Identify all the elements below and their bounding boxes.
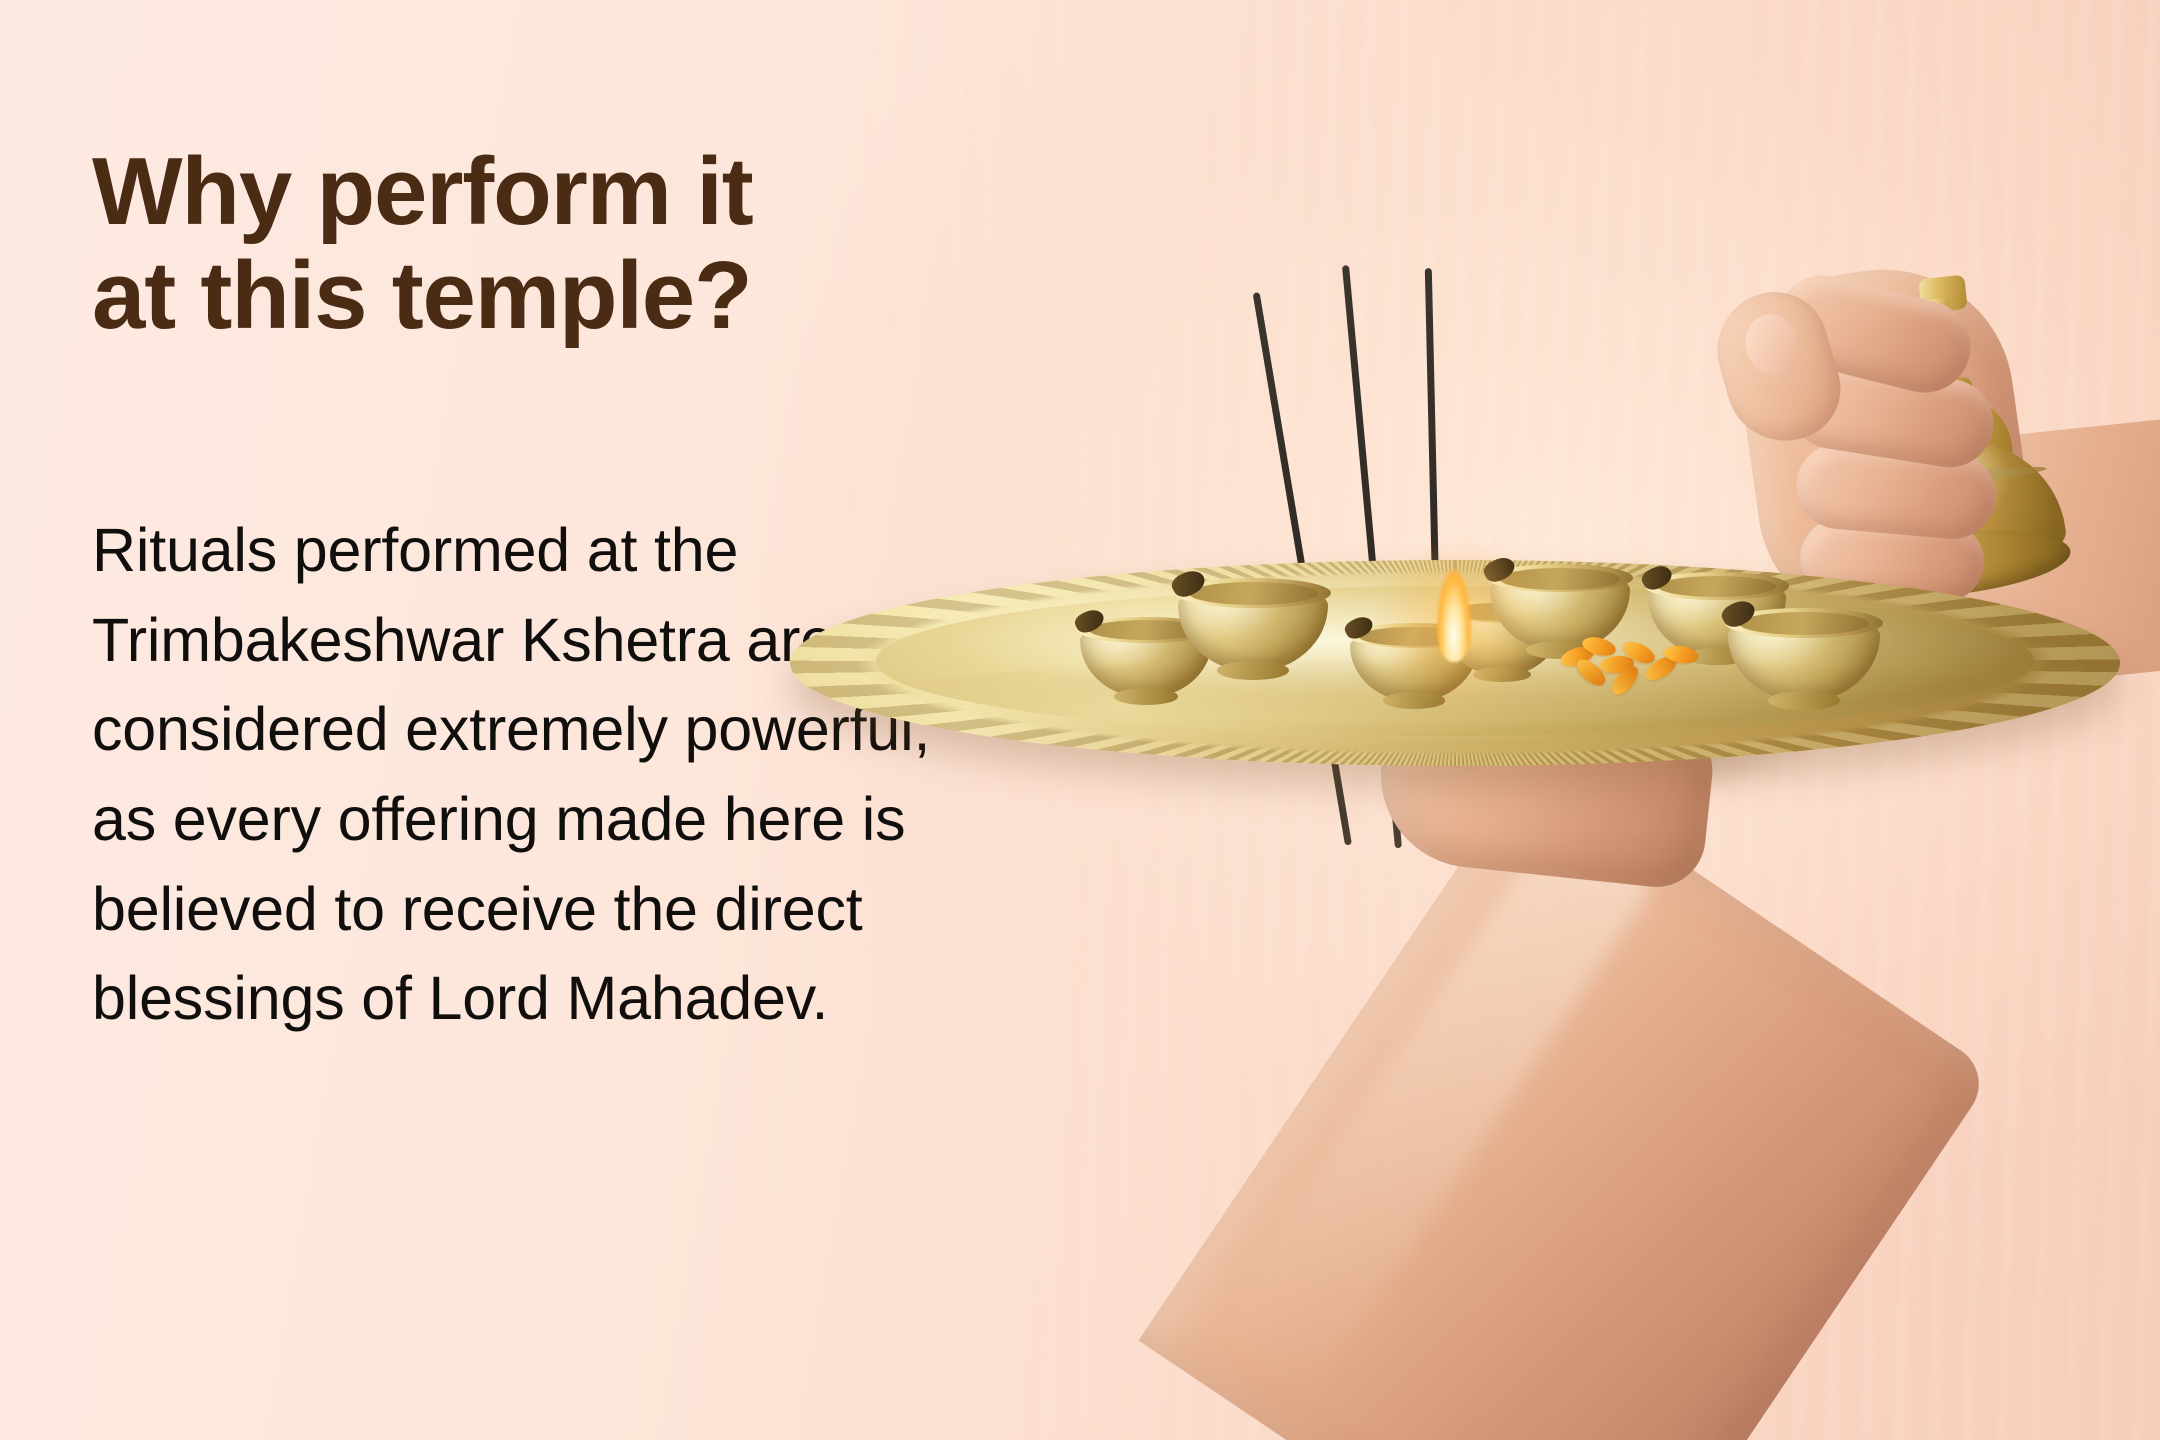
bowl-inner: [1189, 582, 1318, 605]
puja-photo: [1000, 0, 2160, 1440]
headline-line-1: Why perform it: [92, 138, 753, 245]
headline-line-2: at this temple?: [92, 244, 1032, 348]
bowl-inner: [1739, 612, 1870, 635]
slide-canvas: Why perform it at this temple? Rituals p…: [0, 0, 2160, 1440]
hand-holding-thali: [1380, 700, 2160, 1440]
page-title: Why perform it at this temple?: [92, 140, 1032, 347]
